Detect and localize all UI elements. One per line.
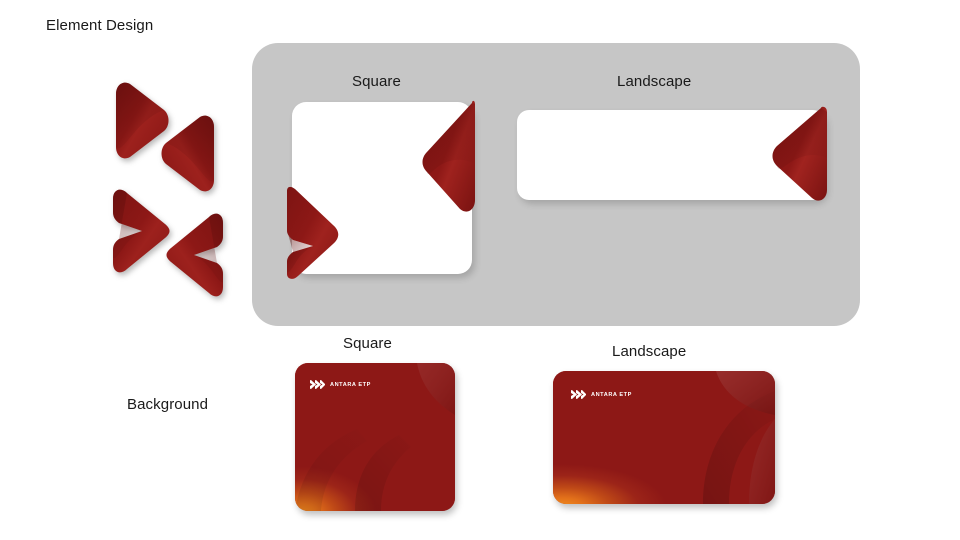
element-shape-group [108,80,228,300]
logo-lockup: ANTARA ETP [571,386,632,404]
mock-card-square[interactable] [292,102,472,274]
element-design-title: Element Design [46,17,153,34]
logo-lockup: ANTARA ETP [310,376,371,394]
arrow-triangle-left-icon [160,113,216,195]
showcase-square-label: Square [352,73,401,90]
triple-chevron-icon [571,386,586,404]
background-card-landscape[interactable]: ANTARA ETP [553,371,775,504]
triple-chevron-icon [310,376,325,394]
background-section-title: Background [127,396,208,413]
showcase-landscape-label: Landscape [617,73,691,90]
logo-wordmark: ANTARA ETP [330,382,371,388]
background-square-label: Square [343,335,392,352]
background-landscape-label: Landscape [612,343,686,360]
background-card-square[interactable]: ANTARA ETP [295,363,455,511]
logo-wordmark: ANTARA ETP [591,392,632,398]
chevron-left-icon [162,212,224,298]
mock-card-landscape[interactable] [517,110,825,200]
